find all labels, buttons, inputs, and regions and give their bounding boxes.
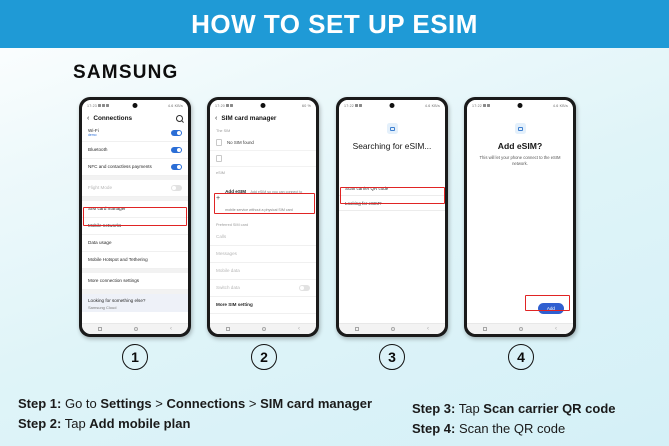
- add-button[interactable]: Add: [538, 303, 564, 314]
- home-icon[interactable]: [262, 327, 266, 331]
- settings-row-wifi[interactable]: Wi-Fi demo: [82, 125, 188, 142]
- status-icon-alarm: [226, 104, 229, 107]
- phone-screen-2: 17:20 60 % ‹ SIM card manager The SIM No…: [210, 100, 316, 334]
- settings-row-mobile-networks[interactable]: Mobile networks: [82, 218, 188, 235]
- caption-step-1: Step 1: Go to Settings > Connections > S…: [18, 394, 372, 414]
- toggle-flight-mode[interactable]: [171, 185, 182, 191]
- row-label-more-connection-settings: More connection settings: [88, 278, 182, 283]
- add-esim-screen: Add eSIM? This will let your phone conne…: [467, 111, 573, 323]
- camera-punchhole-icon: [390, 103, 395, 108]
- add-esim-title: Add eSIM?: [494, 141, 546, 151]
- row-label-sim-card-manager: SIM card manager: [88, 206, 182, 211]
- pref-row-messages[interactable]: Messages: [210, 246, 316, 263]
- page-title: HOW TO SET UP ESIM: [191, 9, 478, 40]
- status-bar-right-4: 4.6 KB/s: [553, 104, 568, 108]
- caption-step-1-bold-a: Settings: [100, 396, 151, 411]
- toggle-nfc[interactable]: [171, 164, 182, 170]
- footer-sub: Samsung Cloud: [88, 305, 182, 310]
- esim-options-list: Scan carrier QR code Looking for eSIM?: [339, 181, 445, 211]
- esim-glyph-icon: [518, 127, 523, 131]
- home-icon[interactable]: [134, 327, 138, 331]
- section-header-esim: eSIM: [210, 167, 316, 177]
- status-bar-right-1: 4.6 KB/s: [168, 104, 183, 108]
- status-time-1: 17:23: [87, 104, 97, 108]
- caption-step-4-label: Step 4:: [412, 421, 455, 436]
- more-sim-setting-label: More SIM setting: [216, 302, 310, 307]
- sim-row-label: No SIM found: [227, 140, 254, 145]
- recents-icon[interactable]: [355, 327, 359, 331]
- camera-punchhole-icon: [261, 103, 266, 108]
- status-time-2: 17:20: [215, 104, 225, 108]
- infographic-page: HOW TO SET UP ESIM SAMSUNG 17:23 4.6 KB/…: [0, 0, 669, 446]
- caption-step-4-plain-a: Scan the QR code: [455, 421, 565, 436]
- status-icon-message: [102, 104, 105, 107]
- recents-icon[interactable]: [98, 327, 102, 331]
- caption-step-3-label: Step 3:: [412, 401, 455, 416]
- settings-row-nfc[interactable]: NFC and contactless payments: [82, 159, 188, 176]
- toggle-wifi[interactable]: [171, 130, 182, 136]
- switch-data-row[interactable]: Switch data: [210, 280, 316, 297]
- back-nav-icon[interactable]: ‹: [298, 326, 300, 332]
- phone-mockup-3: 17:22 4.6 KB/s Searching for eSIM... Sca…: [336, 97, 448, 337]
- header-banner: HOW TO SET UP ESIM: [0, 0, 669, 48]
- settings-row-sim-card-manager[interactable]: SIM card manager: [82, 201, 188, 218]
- pref-label-messages: Messages: [216, 251, 310, 256]
- footer-title: Looking for something else?: [88, 298, 182, 303]
- row-label-mobile-networks: Mobile networks: [88, 223, 182, 228]
- status-time-3: 17:22: [344, 104, 354, 108]
- status-bar-1: 17:23 4.6 KB/s: [82, 100, 188, 111]
- row-label-data-usage: Data usage: [88, 240, 182, 245]
- pref-label-calls: Calls: [216, 234, 310, 239]
- more-sim-setting-row[interactable]: More SIM setting: [210, 297, 316, 314]
- add-esim-title: Add eSIM: [225, 189, 246, 194]
- settings-list-1: Wi-Fi demo Bluetooth NFC and contactless…: [82, 125, 188, 323]
- caption-step-3: Step 3: Tap Scan carrier QR code: [412, 399, 616, 419]
- status-icon-alarm: [483, 104, 486, 107]
- option-looking-for-esim[interactable]: Looking for eSIM?: [339, 196, 445, 211]
- phone-mockup-4: 17:22 4.6 KB/s Add eSIM? This will let y…: [464, 97, 576, 337]
- status-icon-message: [230, 104, 233, 107]
- sim-row-empty[interactable]: [210, 151, 316, 167]
- option-scan-carrier-qr-code[interactable]: Scan carrier QR code: [339, 181, 445, 196]
- settings-row-bluetooth[interactable]: Bluetooth: [82, 142, 188, 159]
- camera-punchhole-icon: [518, 103, 523, 108]
- row-label-wifi: Wi-Fi demo: [88, 128, 171, 138]
- home-icon[interactable]: [519, 327, 523, 331]
- status-icon-alarm: [98, 104, 101, 107]
- back-icon[interactable]: ‹: [87, 115, 89, 122]
- status-time-4: 17:22: [472, 104, 482, 108]
- searching-title: Searching for eSIM...: [349, 141, 436, 151]
- caption-step-1-plain-a: Go to: [61, 396, 100, 411]
- row-label-nfc: NFC and contactless payments: [88, 164, 171, 169]
- android-nav-bar-2: ‹: [210, 323, 316, 334]
- sim-manager-list: The SIM No SIM found eSIM + Add eSIM Add…: [210, 125, 316, 323]
- toggle-switch-data[interactable]: [299, 285, 310, 291]
- step-circle-1: 1: [122, 344, 148, 370]
- plus-icon: +: [216, 195, 220, 202]
- option-label-scan-qr: Scan carrier QR code: [345, 186, 388, 191]
- caption-step-1-plain-c: >: [245, 396, 260, 411]
- caption-step-3-bold-a: Scan carrier QR code: [483, 401, 615, 416]
- caption-left: Step 1: Go to Settings > Connections > S…: [18, 394, 372, 434]
- row-label-flight-mode: Flight Mode: [88, 185, 171, 190]
- app-title-connections: Connections: [93, 115, 172, 122]
- add-esim-text: Add eSIM Add eSIM so you can connect to …: [225, 180, 310, 216]
- status-bar-left-2: 17:20: [215, 104, 233, 108]
- looking-for-something-else-panel[interactable]: Looking for something else? Samsung Clou…: [82, 294, 188, 312]
- status-bar-left-4: 17:22: [472, 104, 490, 108]
- esim-glyph-icon: [390, 127, 395, 131]
- pref-row-calls[interactable]: Calls: [210, 229, 316, 246]
- section-header-preferred-sim: Preferred SIM card: [210, 219, 316, 229]
- toggle-bluetooth[interactable]: [171, 147, 182, 153]
- row-label-hotspot: Mobile Hotspot and Tethering: [88, 257, 182, 262]
- status-icon-message: [487, 104, 490, 107]
- app-bar-1: ‹ Connections: [82, 111, 188, 125]
- phone-screen-4: 17:22 4.6 KB/s Add eSIM? This will let y…: [467, 100, 573, 334]
- recents-icon[interactable]: [226, 327, 230, 331]
- phone-screen-3: 17:22 4.6 KB/s Searching for eSIM... Sca…: [339, 100, 445, 334]
- phone-screen-1: 17:23 4.6 KB/s ‹ Connections Wi-Fi demo: [82, 100, 188, 334]
- status-bar-right-3: 4.6 KB/s: [425, 104, 440, 108]
- esim-badge-icon: [387, 123, 398, 134]
- brand-logo: SAMSUNG: [73, 62, 179, 84]
- row-sub-wifi: demo: [88, 134, 171, 138]
- caption-step-1-bold-b: Connections: [167, 396, 246, 411]
- android-nav-bar-4: ‹: [467, 323, 573, 334]
- caption-step-2-bold-a: Add mobile plan: [89, 416, 190, 431]
- camera-punchhole-icon: [133, 103, 138, 108]
- status-icon-misc: [106, 104, 109, 107]
- caption-step-1-label: Step 1:: [18, 396, 61, 411]
- option-label-looking-for-esim: Looking for eSIM?: [345, 201, 382, 206]
- switch-data-label: Switch data: [216, 285, 299, 290]
- status-bar-4: 17:22 4.6 KB/s: [467, 100, 573, 111]
- back-nav-icon[interactable]: ‹: [427, 326, 429, 332]
- caption-step-1-bold-c: SIM card manager: [260, 396, 372, 411]
- sim-chip-icon: [216, 139, 222, 146]
- settings-row-more-connection-settings[interactable]: More connection settings: [82, 273, 188, 290]
- caption-step-3-plain-a: Tap: [455, 401, 483, 416]
- phone-mockup-1: 17:23 4.6 KB/s ‹ Connections Wi-Fi demo: [79, 97, 191, 337]
- sim-row-no-sim-found[interactable]: No SIM found: [210, 135, 316, 151]
- home-icon[interactable]: [391, 327, 395, 331]
- settings-row-data-usage[interactable]: Data usage: [82, 235, 188, 252]
- android-nav-bar-1: ‹: [82, 323, 188, 334]
- caption-step-2: Step 2: Tap Add mobile plan: [18, 414, 372, 434]
- status-bar-left-3: 17:22: [344, 104, 362, 108]
- caption-step-1-plain-b: >: [152, 396, 167, 411]
- search-icon[interactable]: [176, 115, 183, 122]
- android-nav-bar-3: ‹: [339, 323, 445, 334]
- app-bar-2: ‹ SIM card manager: [210, 111, 316, 125]
- step-circle-4: 4: [508, 344, 534, 370]
- status-icon-message: [359, 104, 362, 107]
- caption-step-2-label: Step 2:: [18, 416, 61, 431]
- esim-badge-icon: [515, 123, 526, 134]
- status-bar-3: 17:22 4.6 KB/s: [339, 100, 445, 111]
- caption-right: Step 3: Tap Scan carrier QR code Step 4:…: [412, 399, 616, 439]
- add-esim-row[interactable]: + Add eSIM Add eSIM so you can connect t…: [210, 177, 316, 219]
- status-bar-left-1: 17:23: [87, 104, 109, 108]
- sim-chip-icon: [216, 155, 222, 162]
- caption-step-2-plain-a: Tap: [61, 416, 89, 431]
- pref-row-mobile-data[interactable]: Mobile data: [210, 263, 316, 280]
- section-header-the-sim: The SIM: [210, 125, 316, 135]
- back-nav-icon[interactable]: ‹: [555, 326, 557, 332]
- caption-step-4: Step 4: Scan the QR code: [412, 419, 616, 439]
- back-icon[interactable]: ‹: [215, 115, 217, 122]
- searching-esim-screen: Searching for eSIM... Scan carrier QR co…: [339, 111, 445, 323]
- phone-mockup-2: 17:20 60 % ‹ SIM card manager The SIM No…: [207, 97, 319, 337]
- status-bar-2: 17:20 60 %: [210, 100, 316, 111]
- pref-label-mobile-data: Mobile data: [216, 268, 310, 273]
- row-label-bluetooth: Bluetooth: [88, 147, 171, 152]
- settings-row-flight-mode[interactable]: Flight Mode: [82, 180, 188, 197]
- recents-icon[interactable]: [483, 327, 487, 331]
- status-icon-alarm: [355, 104, 358, 107]
- status-bar-right-2: 60 %: [302, 104, 311, 108]
- step-circle-2: 2: [251, 344, 277, 370]
- back-nav-icon[interactable]: ‹: [170, 326, 172, 332]
- settings-row-hotspot[interactable]: Mobile Hotspot and Tethering: [82, 252, 188, 269]
- step-circle-3: 3: [379, 344, 405, 370]
- add-esim-description: This will let your phone connect to the …: [467, 151, 573, 166]
- app-title-sim-card-manager: SIM card manager: [221, 115, 311, 122]
